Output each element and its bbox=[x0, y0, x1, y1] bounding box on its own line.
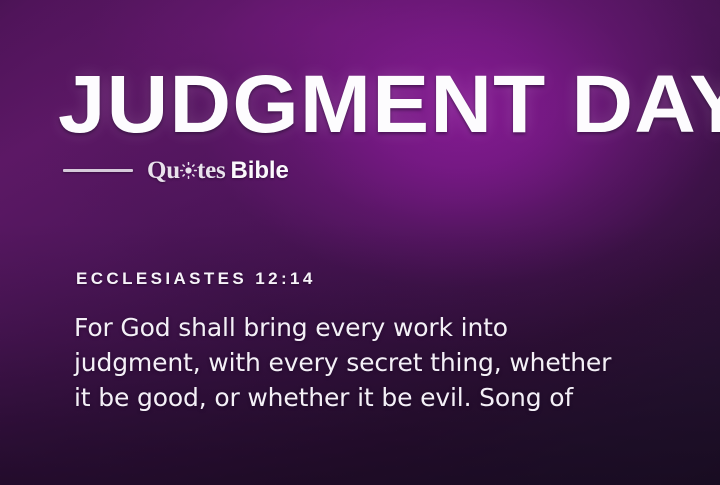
brand-divider-rule bbox=[63, 169, 133, 172]
brand-lockup: Qu bbox=[63, 158, 289, 183]
brand-name-bold: Bible bbox=[231, 159, 289, 183]
sun-burst-icon bbox=[180, 162, 197, 179]
verse-reference: ECCLESIASTES 12:14 bbox=[76, 269, 316, 289]
verse-text-line: judgment, with every secret thing, wheth… bbox=[74, 345, 659, 380]
brand-name-serif-head: Qu bbox=[147, 158, 180, 183]
quote-card: JUDGMENT DAY Qu bbox=[0, 0, 720, 485]
brand-name-serif-tail: tes bbox=[197, 158, 226, 183]
verse-text-line: it be good, or whether it be evil. Song … bbox=[74, 380, 659, 415]
verse-text: For God shall bring every work into judg… bbox=[74, 310, 659, 415]
page-title: JUDGMENT DAY bbox=[58, 66, 720, 144]
card-content: JUDGMENT DAY Qu bbox=[0, 0, 720, 485]
brand-wordmark: Qu bbox=[147, 158, 289, 183]
verse-text-line: For God shall bring every work into bbox=[74, 310, 659, 345]
